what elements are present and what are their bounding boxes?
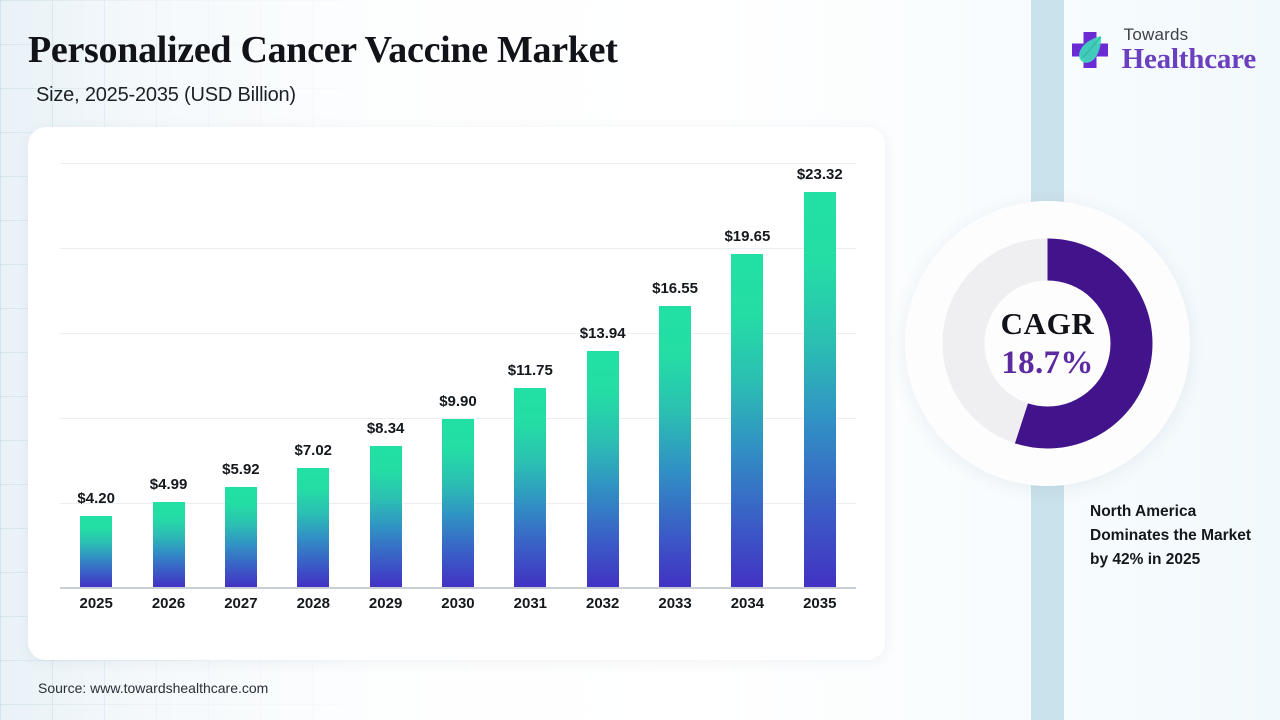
page-title: Personalized Cancer Vaccine Market <box>28 28 618 72</box>
donut-chart-svg <box>905 201 1190 486</box>
bar-2032[interactable] <box>587 351 619 587</box>
bar-value-label: $9.90 <box>439 393 477 410</box>
bar-slot: $16.55 <box>639 163 711 587</box>
bar-2035[interactable] <box>804 192 836 588</box>
bar-slot: $11.75 <box>494 163 566 587</box>
bar-value-label: $4.99 <box>150 476 188 493</box>
x-axis-tick-labels: 2025202620272028202920302031203220332034… <box>60 595 856 612</box>
x-tick-2033: 2033 <box>639 595 711 612</box>
x-tick-2035: 2035 <box>784 595 856 612</box>
bar-value-label: $13.94 <box>580 325 626 342</box>
bar-slot: $19.65 <box>711 163 783 587</box>
bar-value-label: $8.34 <box>367 420 405 437</box>
bar-slot: $5.92 <box>205 163 277 587</box>
header: Personalized Cancer Vaccine Market Size,… <box>0 0 1280 127</box>
x-tick-2032: 2032 <box>567 595 639 612</box>
x-tick-2025: 2025 <box>60 595 132 612</box>
bar-value-label: $16.55 <box>652 280 698 297</box>
cagr-donut: CAGR 18.7% <box>905 229 1190 459</box>
x-axis-line <box>60 587 856 589</box>
x-tick-2030: 2030 <box>422 595 494 612</box>
logo-line-healthcare: Healthcare <box>1122 45 1256 74</box>
bar-chart-plot-area: $4.20$4.99$5.92$7.02$8.34$9.90$11.75$13.… <box>60 163 856 587</box>
x-tick-2034: 2034 <box>711 595 783 612</box>
page-subtitle: Size, 2025-2035 (USD Billion) <box>36 84 296 107</box>
bar-slot: $4.20 <box>60 163 132 587</box>
bar-slot: $9.90 <box>422 163 494 587</box>
bar-slot: $8.34 <box>349 163 421 587</box>
cross-leaf-logo-icon <box>1067 27 1113 73</box>
bar-2025[interactable] <box>80 516 112 587</box>
source-note: Source: www.towardshealthcare.com <box>38 680 268 696</box>
bar-slot: $7.02 <box>277 163 349 587</box>
bar-slot: $4.99 <box>132 163 204 587</box>
x-tick-2026: 2026 <box>132 595 204 612</box>
bar-value-label: $5.92 <box>222 461 260 478</box>
bar-value-label: $4.20 <box>77 490 115 507</box>
region-callout: North America Dominates the Market by 42… <box>1090 500 1262 572</box>
bar-value-label: $19.65 <box>724 228 770 245</box>
bar-series: $4.20$4.99$5.92$7.02$8.34$9.90$11.75$13.… <box>60 163 856 587</box>
bar-2027[interactable] <box>225 487 257 587</box>
x-tick-2031: 2031 <box>494 595 566 612</box>
chart-card: $4.20$4.99$5.92$7.02$8.34$9.90$11.75$13.… <box>28 127 885 660</box>
bar-2030[interactable] <box>442 419 474 587</box>
bar-2033[interactable] <box>659 306 691 587</box>
bar-slot: $13.94 <box>567 163 639 587</box>
bar-2029[interactable] <box>370 446 402 587</box>
bar-value-label: $23.32 <box>797 166 843 183</box>
bar-2026[interactable] <box>153 502 185 587</box>
brand-logo[interactable]: Towards Healthcare <box>1067 26 1256 74</box>
x-tick-2029: 2029 <box>349 595 421 612</box>
bar-value-label: $7.02 <box>294 442 332 459</box>
x-tick-2028: 2028 <box>277 595 349 612</box>
bar-2031[interactable] <box>514 388 546 587</box>
bar-slot: $23.32 <box>784 163 856 587</box>
bar-value-label: $11.75 <box>508 362 553 379</box>
bar-2034[interactable] <box>731 254 763 587</box>
logo-text: Towards Healthcare <box>1122 26 1256 74</box>
bar-2028[interactable] <box>297 468 329 587</box>
x-tick-2027: 2027 <box>205 595 277 612</box>
logo-line-towards: Towards <box>1122 26 1256 43</box>
